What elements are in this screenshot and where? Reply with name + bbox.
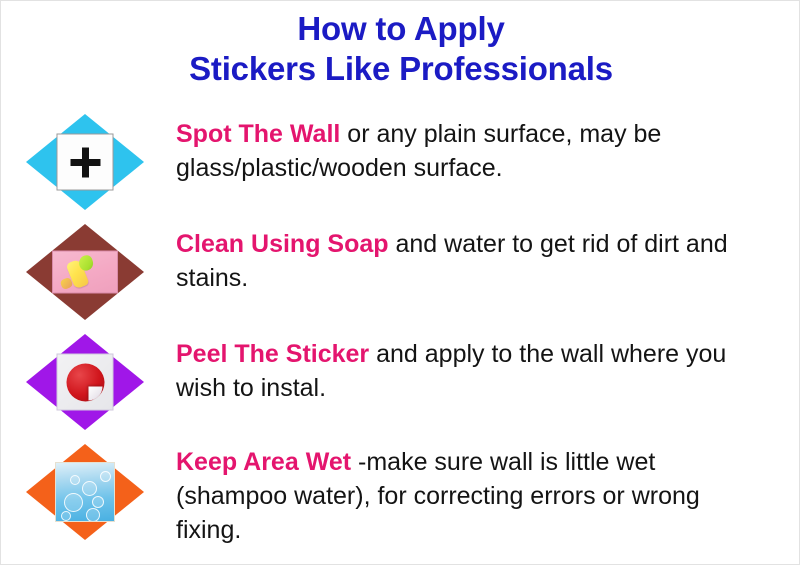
bubble bbox=[100, 471, 111, 482]
title-line-1: How to Apply bbox=[1, 9, 800, 49]
bubble bbox=[86, 508, 100, 522]
plus-sign-icon bbox=[57, 134, 114, 191]
step-text: Spot The Wall or any plain surface, may … bbox=[176, 105, 800, 185]
sponge-icon bbox=[52, 251, 118, 294]
plus-vertical-bar bbox=[82, 147, 89, 177]
step-lead-label: Spot The Wall bbox=[176, 120, 340, 148]
step-text: Clean Using Soap and water to get rid of… bbox=[176, 215, 800, 295]
step-item: Clean Using Soap and water to get rid of… bbox=[1, 215, 800, 325]
diamond-badge bbox=[26, 334, 144, 430]
step-item: Spot The Wall or any plain surface, may … bbox=[1, 105, 800, 215]
step-lead-label: Keep Area Wet bbox=[176, 448, 351, 476]
step-text: Keep Area Wet -make sure wall is little … bbox=[176, 435, 800, 547]
bubble bbox=[61, 511, 71, 521]
sticker-peel-corner bbox=[88, 386, 102, 400]
infographic-page: How to Apply Stickers Like Professionals… bbox=[0, 0, 800, 565]
step-icon-cell bbox=[1, 435, 176, 545]
page-title: How to Apply Stickers Like Professionals bbox=[1, 9, 800, 89]
step-lead-label: Peel The Sticker bbox=[176, 340, 369, 368]
water-bubbles-icon bbox=[55, 462, 115, 522]
step-icon-cell bbox=[1, 105, 176, 215]
step-lead-label: Clean Using Soap bbox=[176, 230, 389, 258]
step-item: Peel The Sticker and apply to the wall w… bbox=[1, 325, 800, 435]
step-icon-cell bbox=[1, 325, 176, 435]
bubble bbox=[64, 493, 83, 512]
step-text: Peel The Sticker and apply to the wall w… bbox=[176, 325, 800, 405]
bubble bbox=[70, 475, 80, 485]
step-icon-cell bbox=[1, 215, 176, 325]
diamond-badge bbox=[26, 444, 144, 540]
diamond-badge bbox=[26, 114, 144, 210]
bubble bbox=[92, 496, 104, 508]
diamond-badge bbox=[26, 224, 144, 320]
bubble bbox=[82, 481, 97, 496]
step-item: Keep Area Wet -make sure wall is little … bbox=[1, 435, 800, 555]
title-line-2: Stickers Like Professionals bbox=[1, 49, 800, 89]
steps-list: Spot The Wall or any plain surface, may … bbox=[1, 105, 800, 555]
peeling-sticker-icon bbox=[57, 354, 114, 411]
